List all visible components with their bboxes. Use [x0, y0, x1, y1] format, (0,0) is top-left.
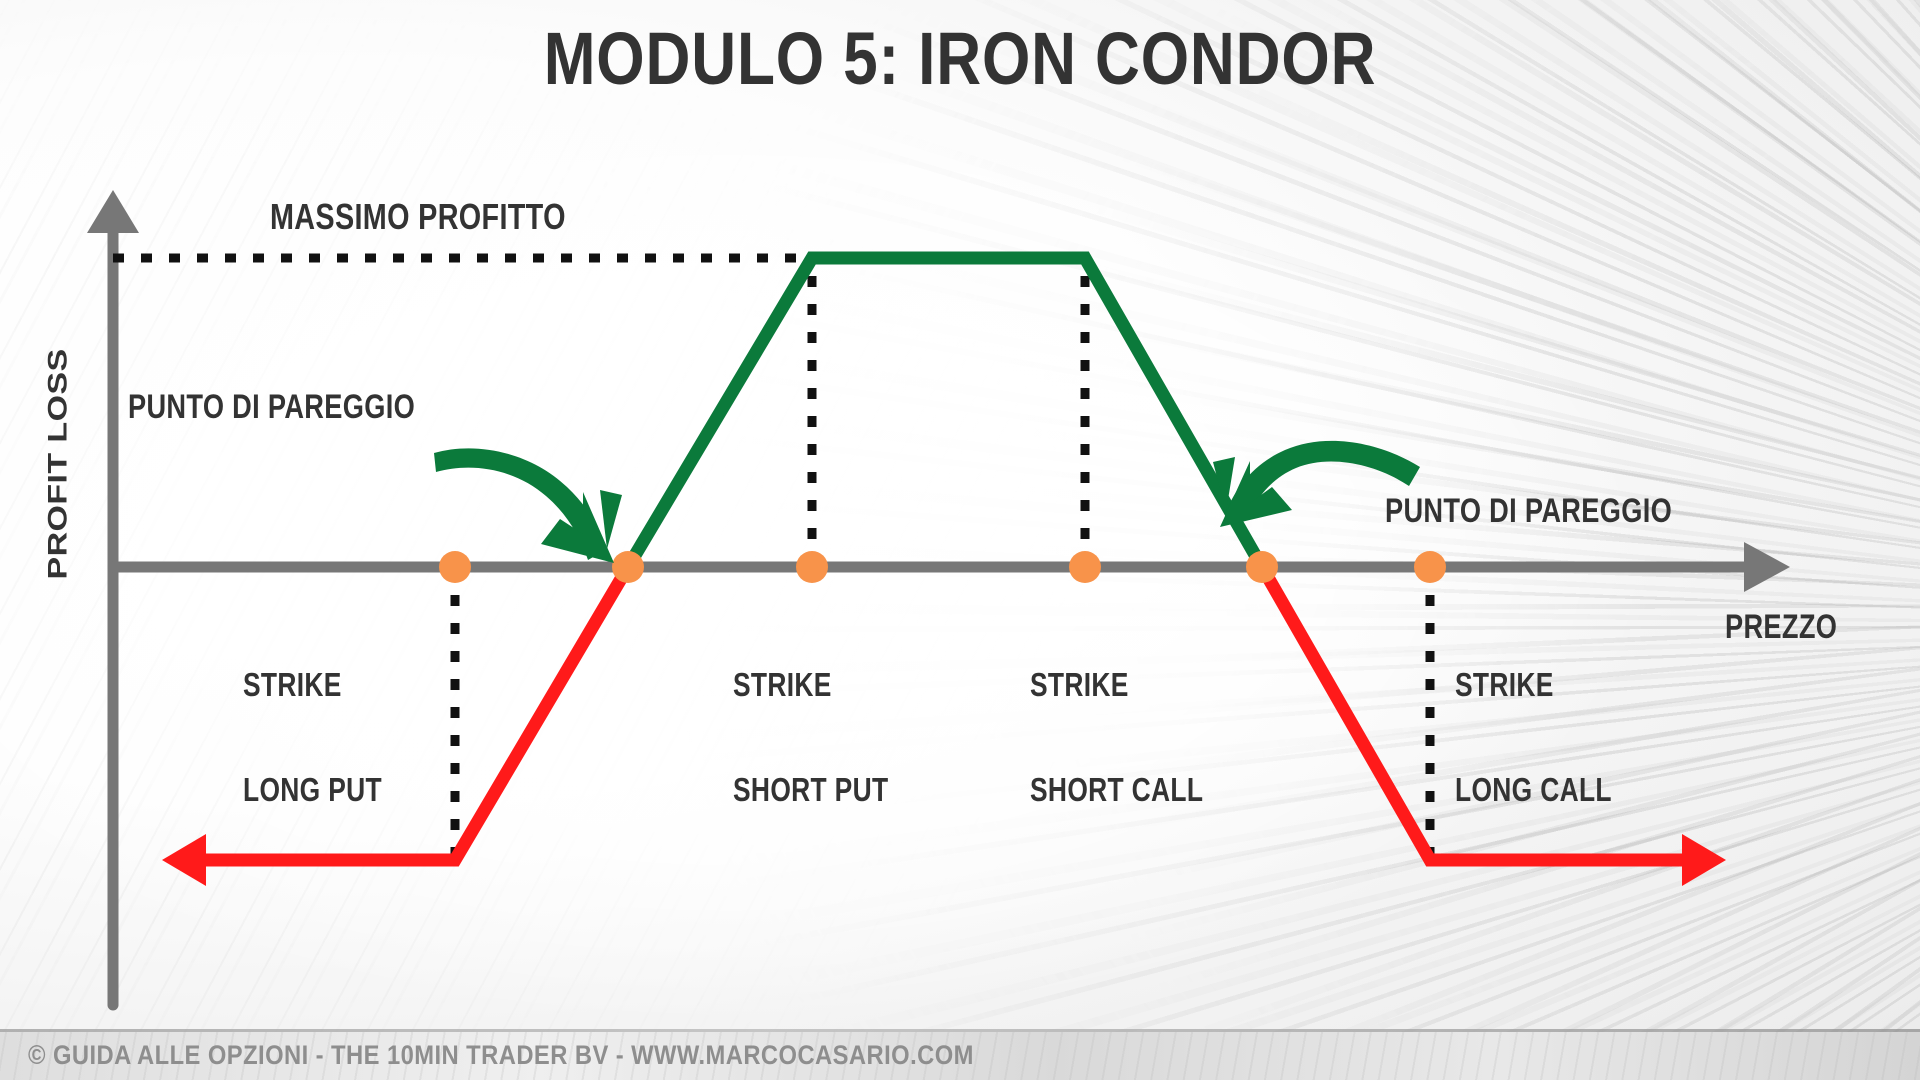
strike-label-short-put-line2: SHORT PUT	[733, 773, 888, 808]
payoff-profit-zone	[628, 258, 1262, 567]
strike-label-long-put: STRIKE LONG PUT	[243, 598, 382, 878]
strike-label-long-put-line2: LONG PUT	[243, 773, 382, 808]
breakeven-label-left: PUNTO DI PAREGGIO	[128, 388, 415, 427]
payoff-loss-left	[162, 567, 628, 886]
marker-strike-long-call	[1414, 551, 1446, 583]
footer-copyright: © GUIDA ALLE OPZIONI - THE 10MIN TRADER …	[28, 1040, 974, 1071]
strike-label-short-put-line1: STRIKE	[733, 668, 888, 703]
footer-bar: © GUIDA ALLE OPZIONI - THE 10MIN TRADER …	[0, 1032, 1920, 1080]
breakeven-label-right: PUNTO DI PAREGGIO	[1385, 492, 1672, 531]
strike-label-long-put-line1: STRIKE	[243, 668, 382, 703]
infographic-canvas: MODULO 5: IRON CONDOR	[0, 0, 1920, 1080]
loss-left-arrow-icon	[162, 834, 206, 886]
marker-strike-long-put	[439, 551, 471, 583]
x-axis	[113, 542, 1790, 592]
max-profit-label: MASSIMO PROFITTO	[270, 196, 566, 238]
strike-label-short-put: STRIKE SHORT PUT	[733, 598, 888, 878]
arrow-right-icon	[1744, 542, 1790, 592]
payoff-chart	[0, 0, 1920, 1080]
y-axis-label: PROFIT LOSS	[42, 380, 73, 580]
marker-breakeven-upper	[1246, 551, 1278, 583]
marker-breakeven-lower	[612, 551, 644, 583]
strike-label-long-call-line1: STRIKE	[1455, 668, 1612, 703]
marker-strike-short-put	[796, 551, 828, 583]
strike-label-long-call-line2: LONG CALL	[1455, 773, 1612, 808]
loss-right-arrow-icon	[1682, 834, 1726, 886]
strike-label-short-call-line1: STRIKE	[1030, 668, 1203, 703]
arrow-up-icon	[87, 190, 139, 233]
x-axis-label: PREZZO	[1725, 608, 1837, 647]
strike-label-long-call: STRIKE LONG CALL	[1455, 598, 1612, 878]
curved-arrow-down-right-icon	[434, 448, 622, 563]
strike-label-short-call-line2: SHORT CALL	[1030, 773, 1203, 808]
y-axis	[87, 190, 139, 1005]
strike-label-short-call: STRIKE SHORT CALL	[1030, 598, 1203, 878]
marker-strike-short-call	[1069, 551, 1101, 583]
payoff-chart-svg	[0, 0, 1920, 1080]
